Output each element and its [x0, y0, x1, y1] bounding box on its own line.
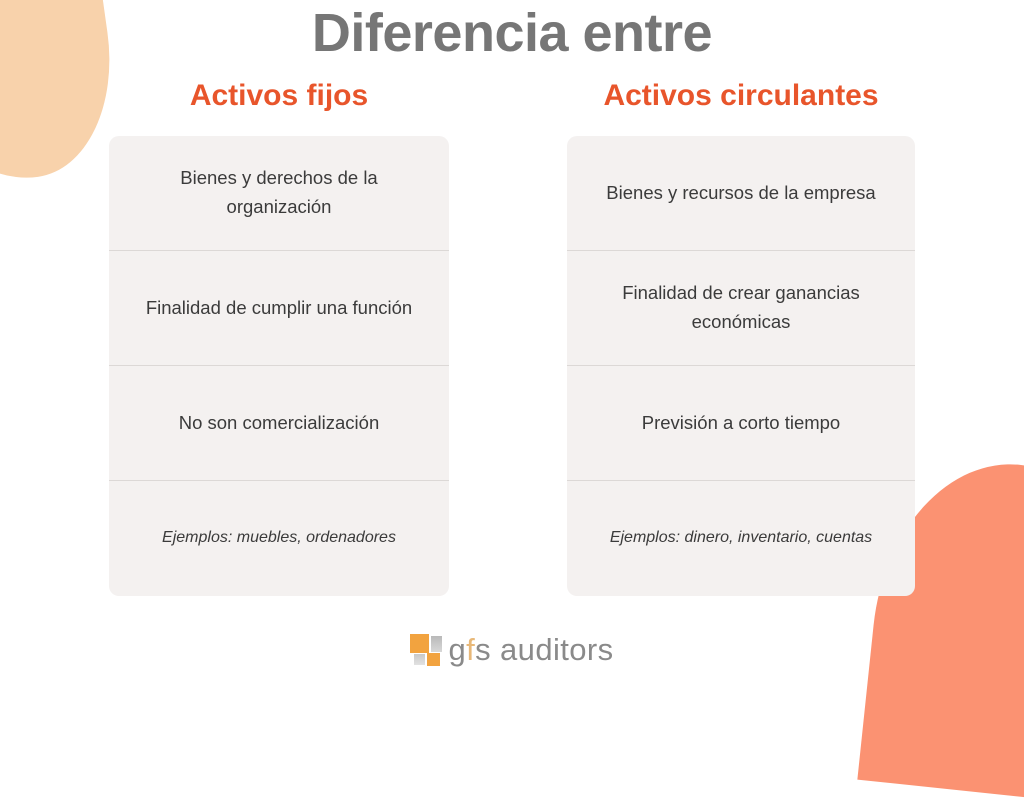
table-row: Finalidad de crear ganancias económicas	[567, 251, 915, 366]
page-title: Diferencia entre	[312, 2, 712, 64]
table-row: Bienes y derechos de la organización	[109, 136, 449, 251]
column-heading-current-assets: Activos circulantes	[603, 78, 878, 114]
logo-text-f: f	[466, 632, 475, 667]
table-row: Previsión a corto tiempo	[567, 366, 915, 481]
logo-text-g: g	[448, 632, 466, 667]
comparison-column-fixed-assets: Activos fijos Bienes y derechos de la or…	[109, 78, 449, 596]
comparison-column-current-assets: Activos circulantes Bienes y recursos de…	[567, 78, 915, 596]
logo-squares-icon	[410, 632, 444, 666]
row-text: Finalidad de crear ganancias económicas	[585, 279, 897, 336]
card-current-assets: Bienes y recursos de la empresa Finalida…	[567, 136, 915, 596]
row-text: Bienes y derechos de la organización	[127, 164, 431, 221]
footer: gfs auditors	[0, 632, 1024, 666]
row-text: No son comercialización	[179, 409, 380, 438]
row-text: Finalidad de cumplir una función	[146, 294, 412, 323]
infographic-stage: Diferencia entre Activos fijos Bienes y …	[0, 0, 1024, 672]
row-text: Previsión a corto tiempo	[642, 409, 840, 438]
table-row: Ejemplos: muebles, ordenadores	[109, 481, 449, 596]
table-row: Bienes y recursos de la empresa	[567, 136, 915, 251]
row-text: Bienes y recursos de la empresa	[606, 179, 875, 208]
table-row: Finalidad de cumplir una función	[109, 251, 449, 366]
gfs-auditors-logo: gfs auditors	[410, 632, 613, 666]
card-fixed-assets: Bienes y derechos de la organización Fin…	[109, 136, 449, 596]
logo-text-rest: s auditors	[475, 632, 613, 667]
row-text-example: Ejemplos: muebles, ordenadores	[162, 526, 396, 551]
table-row: Ejemplos: dinero, inventario, cuentas	[567, 481, 915, 596]
logo-wordmark: gfs auditors	[448, 634, 613, 665]
comparison-columns: Activos fijos Bienes y derechos de la or…	[0, 78, 1024, 596]
row-text-example: Ejemplos: dinero, inventario, cuentas	[610, 526, 872, 551]
column-heading-fixed-assets: Activos fijos	[190, 78, 368, 114]
table-row: No son comercialización	[109, 366, 449, 481]
